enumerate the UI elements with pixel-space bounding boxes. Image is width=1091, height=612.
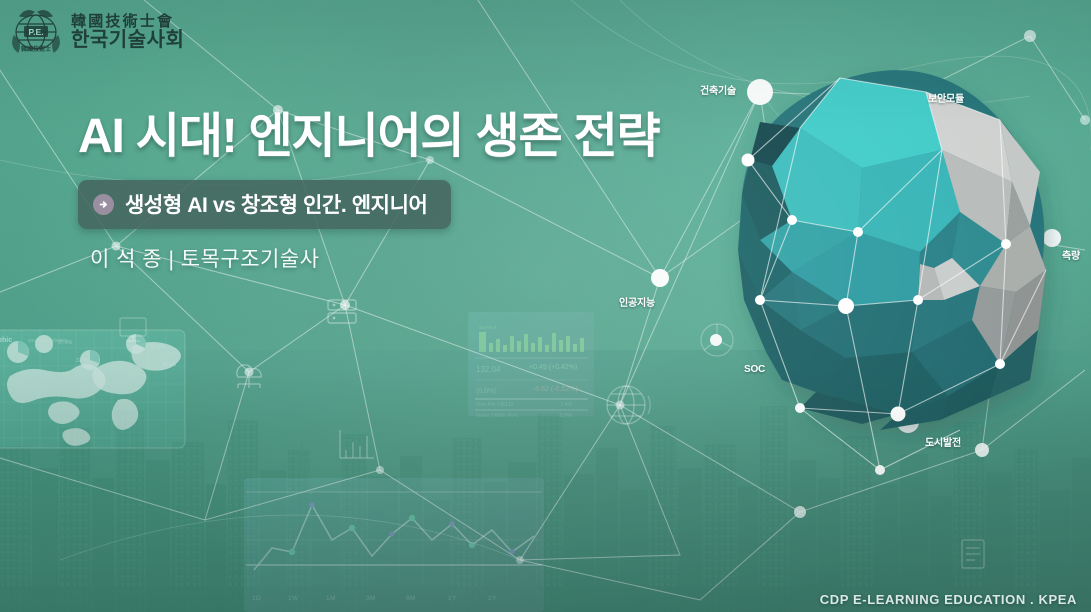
node-label-construction-tech: 건축기술 xyxy=(700,82,736,97)
node-label-surveying: 측량 xyxy=(1062,247,1080,262)
logo-hangul-text: 한국기술사회 xyxy=(71,29,184,50)
svg-text:韓國技術士: 韓國技術士 xyxy=(21,45,51,53)
organization-logo: P.E. 韓國技術士 韓國技術士會 한국기술사회 xyxy=(8,6,184,58)
node-label-artificial-intelligence: 인공지능 xyxy=(619,294,655,309)
presentation-slide: Infographic your presentation 68.3%49.1%… xyxy=(0,0,1091,612)
node-label-soc: SOC xyxy=(744,364,765,375)
node-label-security-module: 보안모듈 xyxy=(928,90,964,105)
svg-text:P.E.: P.E. xyxy=(29,27,44,37)
subtitle-pill: 생성형 AI vs 창조형 인간. 엔지니어 xyxy=(78,180,451,229)
subtitle-text: 생성형 AI vs 창조형 인간. 엔지니어 xyxy=(125,189,427,219)
kpea-emblem-icon: P.E. 韓國技術士 xyxy=(8,6,64,58)
footer-branding: CDP E-LEARNING EDUCATION . KPEA xyxy=(820,592,1077,607)
node-label-urban-development: 도시발전 xyxy=(925,434,961,449)
presenter-line: 이 석 종 | 토목구조기술사 xyxy=(90,243,660,273)
page-title: AI 시대! 엔지니어의 생존 전략 xyxy=(78,96,660,166)
title-block: AI 시대! 엔지니어의 생존 전략 생성형 AI vs 창조형 인간. 엔지니… xyxy=(78,96,660,273)
arrow-right-icon xyxy=(93,194,114,215)
